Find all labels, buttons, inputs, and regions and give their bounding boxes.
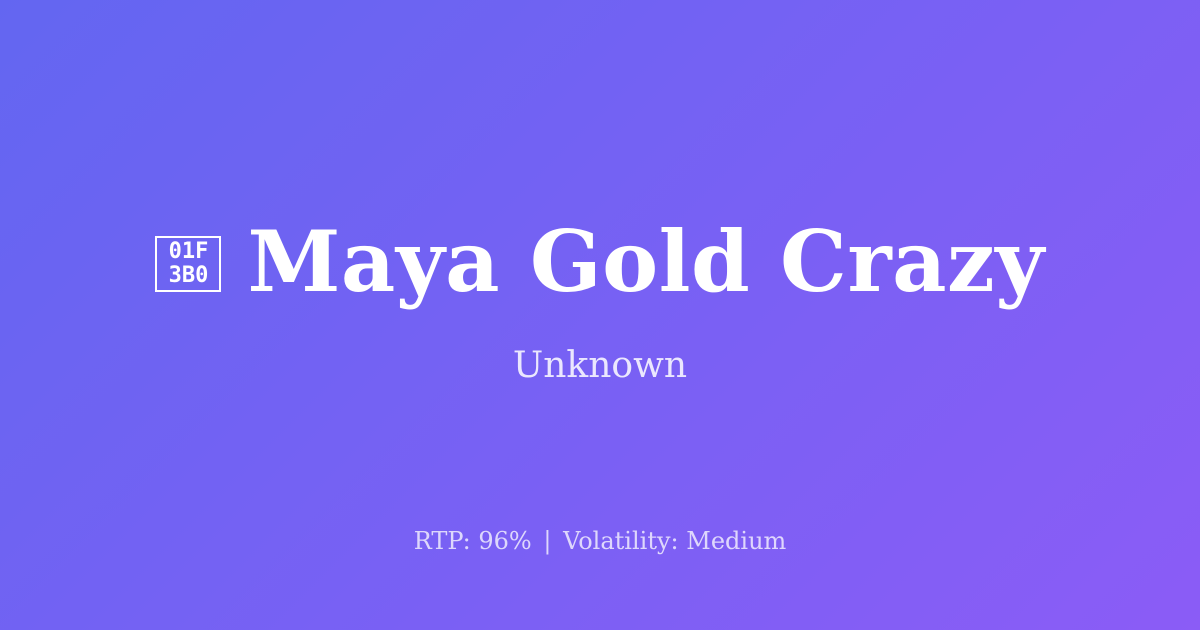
hero-block: 01F 3B0 Maya Gold Crazy Unknown bbox=[0, 216, 1200, 388]
stats-separator: | bbox=[539, 527, 555, 555]
provider-subtitle: Unknown bbox=[513, 344, 687, 388]
game-stats-line: RTP: 96% | Volatility: Medium bbox=[0, 526, 1200, 556]
slot-machine-emoji-missing-glyph-icon: 01F 3B0 bbox=[155, 236, 221, 292]
rtp-value: 96% bbox=[478, 527, 531, 555]
codepoint-bottom: 3B0 bbox=[169, 264, 209, 288]
volatility-value: Medium bbox=[686, 527, 786, 555]
game-preview-card: 01F 3B0 Maya Gold Crazy Unknown RTP: 96%… bbox=[0, 0, 1200, 630]
codepoint-top: 01F bbox=[169, 240, 209, 264]
rtp-label: RTP: bbox=[414, 527, 471, 555]
volatility-label: Volatility: bbox=[563, 527, 679, 555]
page-title: Maya Gold Crazy bbox=[247, 216, 1044, 308]
title-row: 01F 3B0 Maya Gold Crazy bbox=[155, 216, 1044, 308]
